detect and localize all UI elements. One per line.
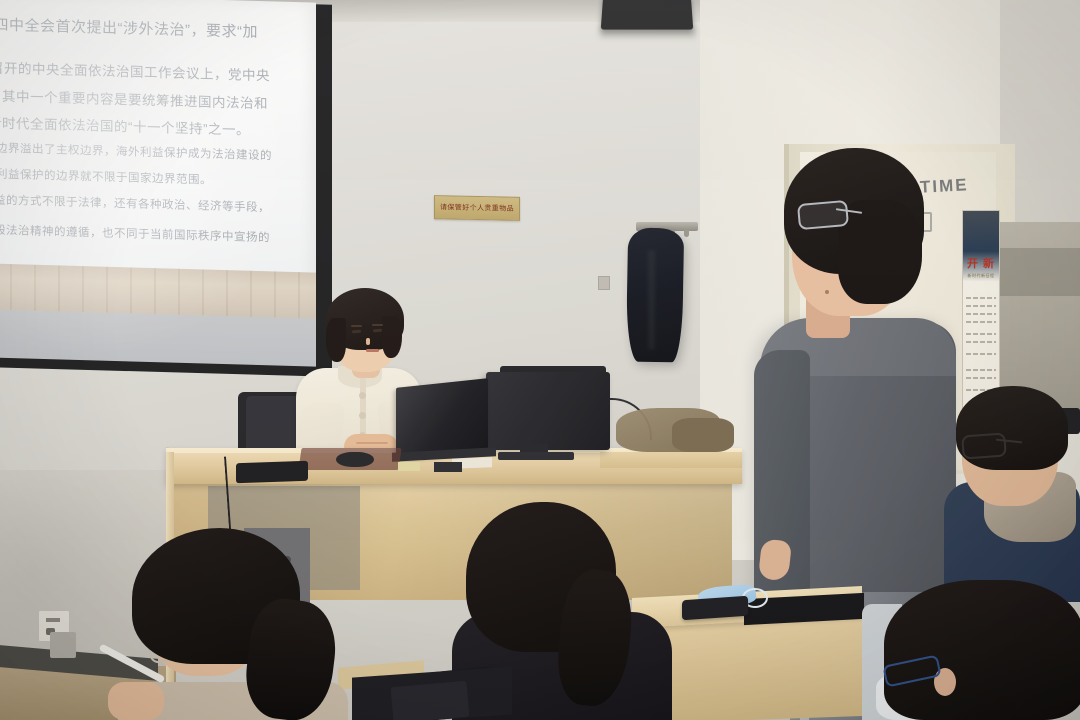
wall-sign-text: 请保管好个人贵重物品 [440, 202, 514, 214]
instructor-finger-line [356, 442, 388, 444]
instructor-button [359, 412, 366, 419]
instructor-hair-left [326, 318, 346, 362]
standing-student-mole [825, 290, 829, 294]
hanging-jacket [626, 228, 684, 363]
podium-smartphone[interactable] [434, 462, 462, 472]
poster-text-row [966, 321, 996, 323]
poster-subtitle: 新时代新征程 [963, 273, 999, 279]
eyeglasses-icon [961, 432, 1007, 459]
eyeglasses-icon [797, 200, 849, 230]
instructor-eye-right [373, 329, 382, 333]
podium-rear-rail [600, 452, 742, 468]
jacket-fold-highlight [648, 250, 655, 350]
poster-title: 开 新 [963, 255, 999, 271]
coat-hook-4 [684, 230, 689, 237]
poster-text-row [966, 313, 996, 315]
classroom-photo: 届四中全会首次提出“涉外法治”，要求“加 日召开的中央全面依法治国工作会议上，党… [0, 0, 1080, 720]
monitor-stand-base [498, 452, 574, 460]
wall-sign-plate: 请保管好个人贵重物品 [434, 195, 520, 221]
poster-text-row [966, 377, 996, 379]
poster-text-row [966, 305, 996, 307]
poster-text-row [966, 341, 996, 343]
tablet-device[interactable] [391, 681, 470, 720]
poster-text-row [966, 333, 996, 335]
student-right-front-hair [884, 580, 1080, 720]
poster-text-row [966, 353, 996, 355]
student-left-hand [108, 682, 164, 720]
computer-mouse[interactable] [336, 452, 374, 467]
standing-student-hair-back [838, 200, 922, 304]
instructor-eyebrow-left [351, 325, 362, 327]
instructor-nose [366, 338, 370, 345]
power-plug [50, 632, 76, 658]
instructor-mouth [366, 349, 379, 352]
instructor-eye-left [352, 330, 361, 334]
poster-text-row [966, 369, 996, 371]
instructor-hair-right [382, 316, 402, 358]
ceiling-speaker-icon [601, 0, 694, 30]
wall-switch [598, 276, 610, 290]
instructor-button [359, 392, 366, 399]
instructor-eyebrow-right [372, 324, 383, 326]
sticky-note [398, 462, 420, 471]
right-cabinet-strip [1000, 248, 1080, 296]
projection-glow [0, 0, 316, 365]
outlet-slot-upper [46, 618, 60, 622]
handbag-secondary [672, 418, 734, 452]
poster-text-row [966, 297, 996, 299]
desktop-monitor[interactable] [486, 372, 610, 450]
